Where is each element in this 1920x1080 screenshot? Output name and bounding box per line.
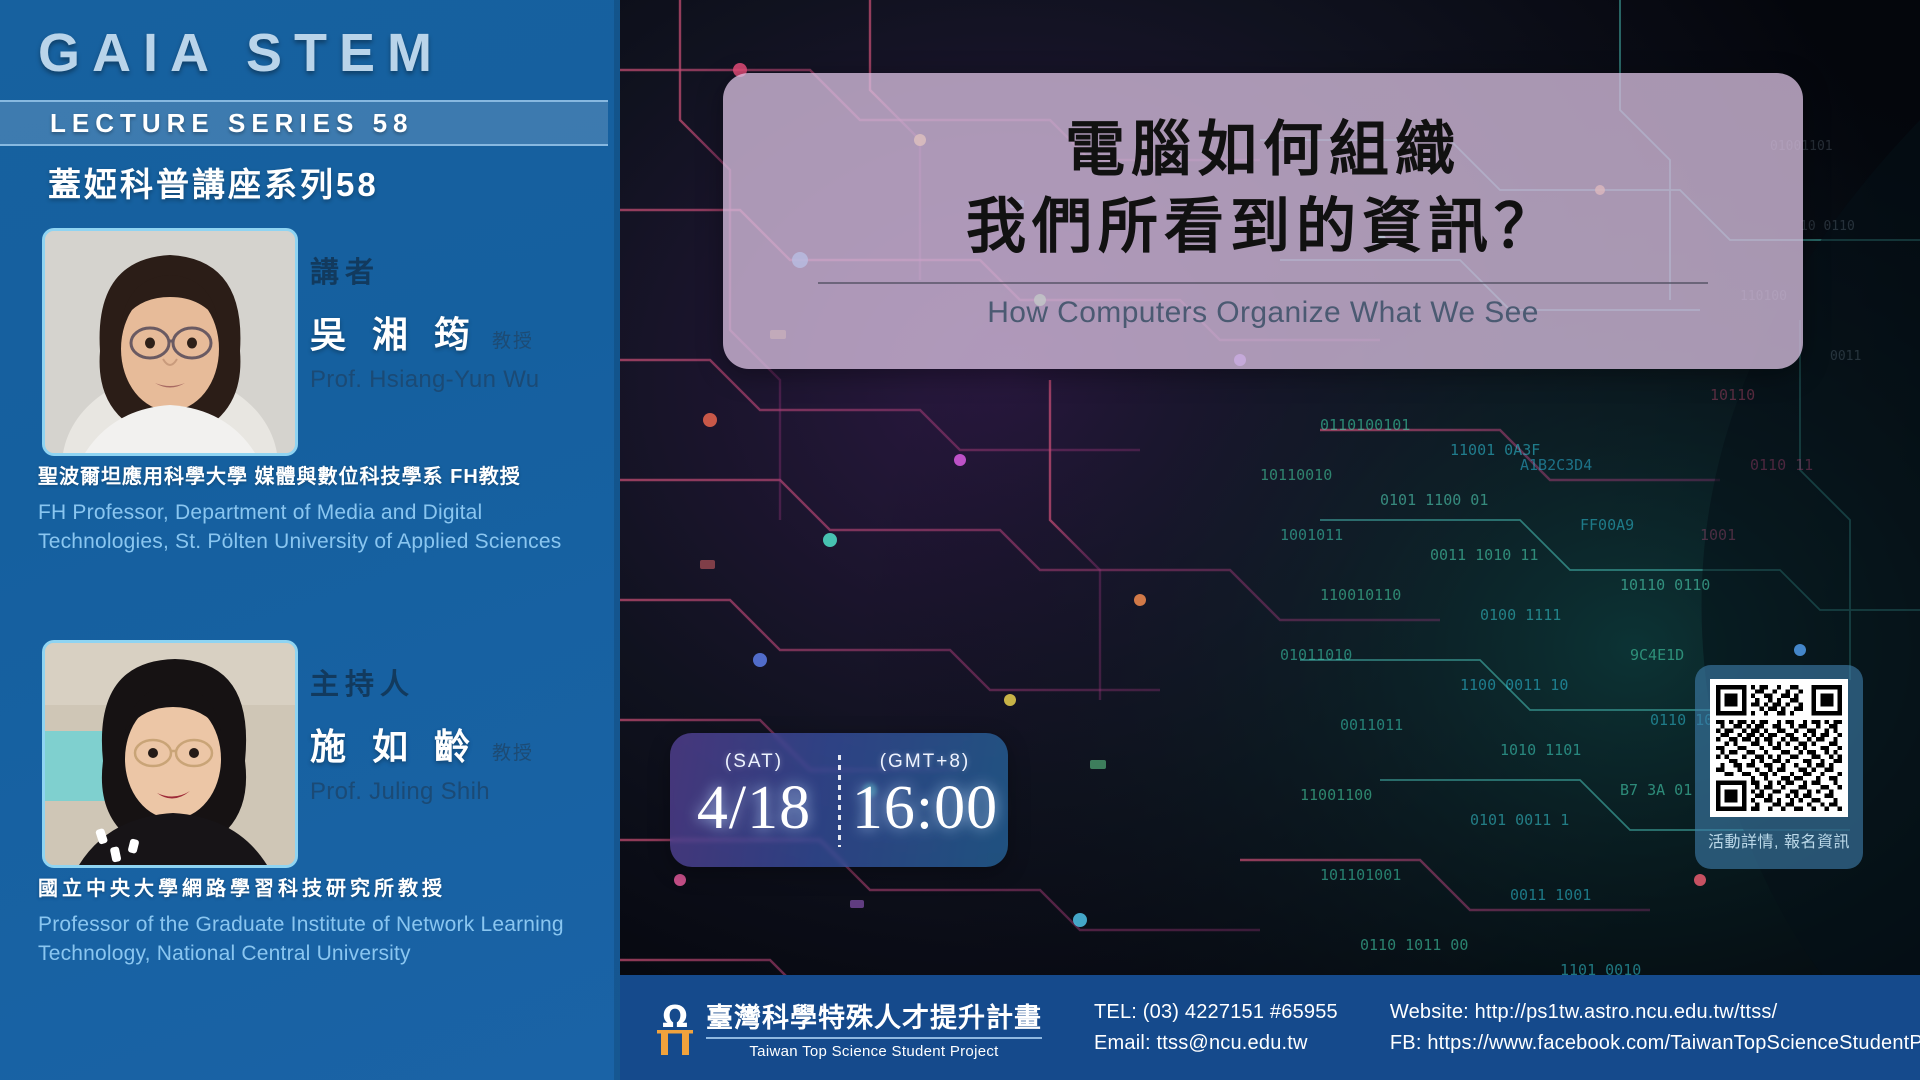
svg-text:1001011: 1001011 — [1280, 526, 1343, 544]
title-divider — [818, 282, 1708, 284]
talk-title-card: 電腦如何組織 我們所看到的資訊？ How Computers Organize … — [723, 73, 1803, 369]
speaker-meta: 講者 吳 湘 筠 教授 Prof. Hsiang-Yun Wu — [310, 258, 610, 394]
svg-text:110010110: 110010110 — [1320, 586, 1401, 604]
badge-divider — [838, 755, 841, 847]
svg-text:B7 3A 01: B7 3A 01 — [1620, 781, 1692, 799]
svg-text:0011 1001: 0011 1001 — [1510, 886, 1591, 904]
left-info-panel: GAIA STEM LECTURE SERIES 58 蓋婭科普講座系列58 — [0, 0, 620, 1080]
host-role-label: 主持人 — [310, 670, 610, 702]
talk-title-cn-line2: 我們所看到的資訊？ — [966, 189, 1560, 266]
svg-text:0011011: 0011011 — [1340, 716, 1403, 734]
svg-text:0110100101: 0110100101 — [1320, 416, 1410, 434]
svg-text:0101 1100 01: 0101 1100 01 — [1380, 491, 1488, 509]
date-time-badge: (SAT) 4/18 (GMT+8) 16:00 — [670, 733, 1008, 867]
host-affiliation-cn: 國立中央大學網路學習科技研究所教授 — [38, 876, 598, 903]
event-time: 16:00 — [842, 773, 1008, 844]
svg-text:9C4E1D: 9C4E1D — [1630, 646, 1684, 664]
lecture-poster: GAIA STEM LECTURE SERIES 58 蓋婭科普講座系列58 — [0, 0, 1920, 1080]
weekday-label: (SAT) — [670, 751, 838, 773]
links-block: Website: http://ps1tw.astro.ncu.edu.tw/t… — [1390, 997, 1920, 1059]
speaker-affiliation-en: FH Professor, Department of Media and Di… — [38, 499, 583, 557]
host-name: 施 如 齡 — [310, 718, 478, 770]
qr-caption: 活動詳情, 報名資訊 — [1708, 828, 1850, 852]
svg-text:11001100: 11001100 — [1300, 786, 1372, 804]
qr-code-panel[interactable]: 活動詳情, 報名資訊 — [1695, 665, 1863, 869]
speaker-name-en: Prof. Hsiang-Yun Wu — [310, 366, 610, 394]
svg-text:0100 1111: 0100 1111 — [1480, 606, 1561, 624]
qr-code-icon — [1710, 679, 1848, 817]
timezone-label: (GMT+8) — [842, 751, 1008, 773]
contact-block: TEL: (03) 4227151 #65955 Email: ttss@ncu… — [1094, 997, 1338, 1059]
svg-text:0101 0011 1: 0101 0011 1 — [1470, 811, 1569, 829]
svg-text:A1B2C3D4: A1B2C3D4 — [1520, 456, 1592, 474]
time-column: (GMT+8) 16:00 — [842, 733, 1008, 867]
series-banner: LECTURE SERIES 58 — [0, 100, 608, 146]
facebook-link[interactable]: FB: https://www.facebook.com/TaiwanTopSc… — [1390, 1028, 1920, 1059]
host-name-en: Prof. Juling Shih — [310, 778, 610, 806]
organization-name-en: Taiwan Top Science Student Project — [706, 1043, 1042, 1060]
svg-text:Ω: Ω — [662, 1000, 688, 1035]
svg-text:10110: 10110 — [1710, 386, 1755, 404]
website-link[interactable]: Website: http://ps1tw.astro.ncu.edu.tw/t… — [1390, 997, 1920, 1028]
svg-text:0011 1010 11: 0011 1010 11 — [1430, 546, 1538, 564]
omega-pi-logo-icon: Ω — [652, 999, 698, 1057]
event-date: 4/18 — [670, 773, 838, 844]
footer-bar: Ω 臺灣科學特殊人才提升計畫 Taiwan Top Science Studen… — [620, 975, 1920, 1080]
svg-text:1001: 1001 — [1700, 526, 1736, 544]
svg-text:10 0110: 10 0110 — [1800, 219, 1855, 234]
organization-logo: Ω 臺灣科學特殊人才提升計畫 Taiwan Top Science Studen… — [652, 996, 1042, 1060]
svg-text:0011: 0011 — [1830, 349, 1861, 364]
date-column: (SAT) 4/18 — [670, 733, 838, 867]
svg-text:0110 11: 0110 11 — [1750, 456, 1813, 474]
organization-name-cn: 臺灣科學特殊人才提升計畫 — [706, 996, 1042, 1039]
svg-text:1100 0011 10: 1100 0011 10 — [1460, 676, 1568, 694]
host-affiliation-en: Professor of the Graduate Institute of N… — [38, 911, 583, 969]
series-label-cn: 蓋婭科普講座系列58 — [48, 158, 379, 206]
speaker-affiliation-cn: 聖波爾坦應用科學大學 媒體與數位科技學系 FH教授 — [38, 464, 598, 491]
contact-email[interactable]: Email: ttss@ncu.edu.tw — [1094, 1028, 1338, 1059]
svg-text:01011010: 01011010 — [1280, 646, 1352, 664]
brand-title: GAIA STEM — [38, 22, 444, 84]
host-block: 主持人 施 如 齡 教授 Prof. Juling Shih 國立中央大學網路學… — [0, 640, 620, 969]
speaker-block: 講者 吳 湘 筠 教授 Prof. Hsiang-Yun Wu 聖波爾坦應用科學… — [0, 228, 620, 557]
host-portrait — [42, 640, 298, 868]
speaker-name: 吳 湘 筠 — [310, 306, 478, 358]
svg-text:FF00A9: FF00A9 — [1580, 516, 1634, 534]
series-label-en: LECTURE SERIES 58 — [50, 108, 414, 139]
svg-text:10110 0110: 10110 0110 — [1620, 576, 1710, 594]
contact-tel: TEL: (03) 4227151 #65955 — [1094, 997, 1338, 1028]
host-rank: 教授 — [492, 738, 534, 770]
speaker-portrait — [42, 228, 298, 456]
svg-text:10110010: 10110010 — [1260, 466, 1332, 484]
host-meta: 主持人 施 如 齡 教授 Prof. Juling Shih — [310, 670, 610, 806]
svg-text:101101001: 101101001 — [1320, 866, 1401, 884]
svg-text:0110 1011 00: 0110 1011 00 — [1360, 936, 1468, 954]
svg-text:1010 1101: 1010 1101 — [1500, 741, 1581, 759]
talk-title-cn-line1: 電腦如何組織 — [1065, 112, 1461, 189]
right-visual-panel: 0110100101 11001 0A3F 10110010 0101 1100… — [620, 0, 1920, 1080]
speaker-role-label: 講者 — [310, 258, 610, 290]
talk-title-en: How Computers Organize What We See — [987, 296, 1539, 330]
speaker-rank: 教授 — [492, 326, 534, 358]
